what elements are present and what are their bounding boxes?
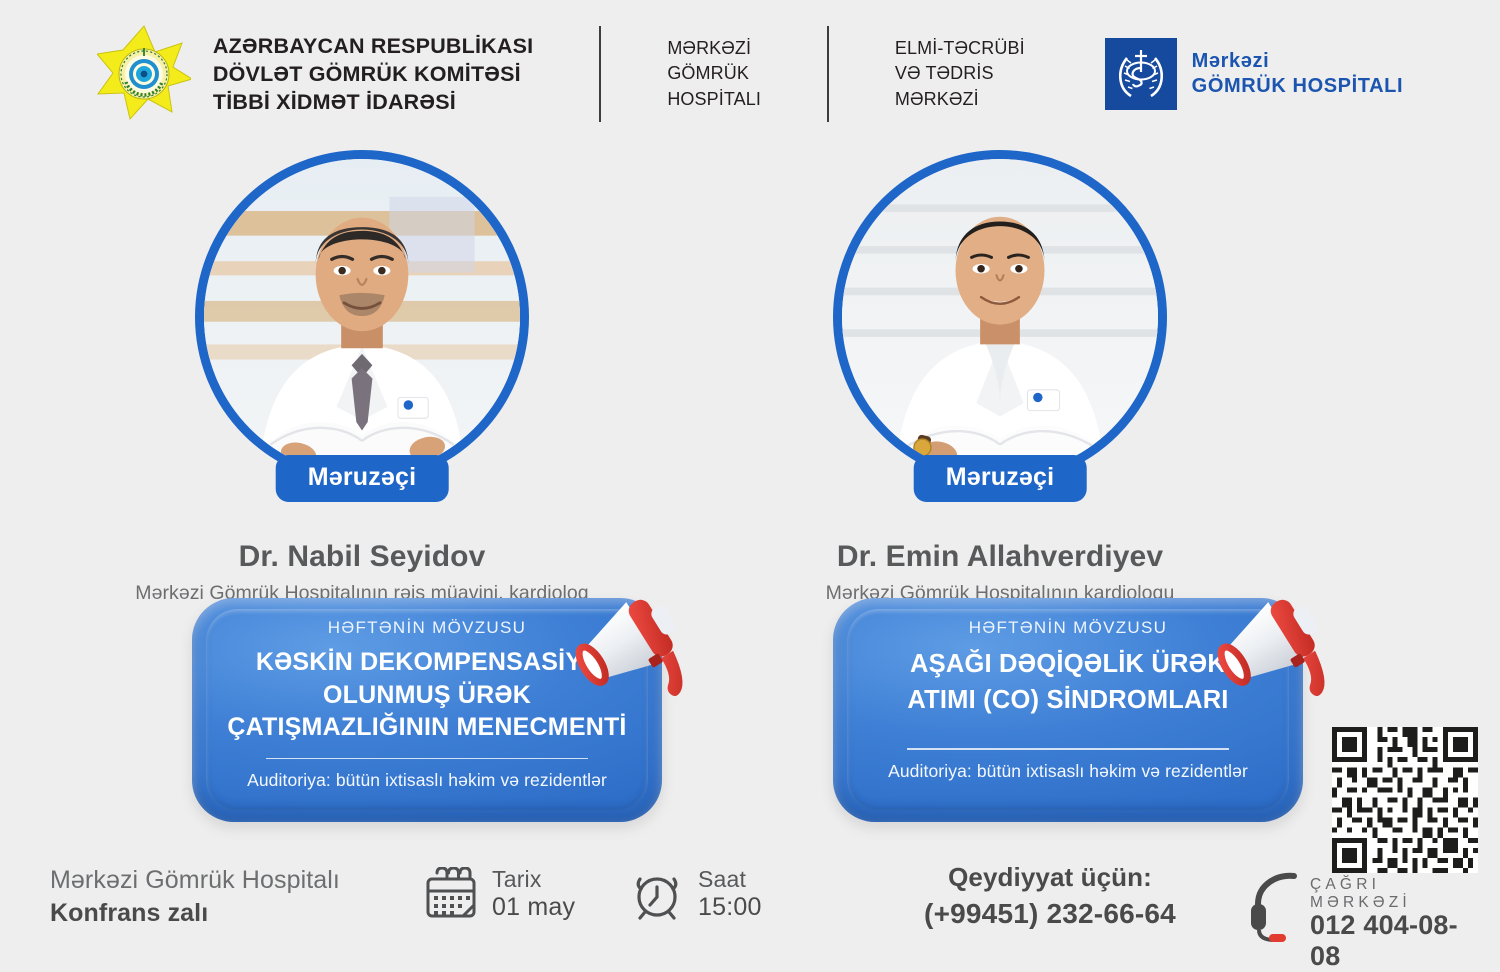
topic-2-separator [907,748,1229,750]
venue-block: Mərkəzi Gömrük Hospitalı Konfrans zalı [50,866,340,928]
hospital-line-2: GÖMRÜK [667,61,761,87]
speaker-2-badge: Məruzəçi [914,455,1087,502]
central-customs-hospital-logo: Mərkəzi GÖMRÜK HOSPİTALI [1105,38,1403,110]
topic-2-audience: Auditoriya: bütün ixtisaslı həkim və rez… [888,761,1248,782]
calendar-icon [424,867,478,921]
registration-block: Qeydiyyat üçün: (+99451) 232-66-64 [880,862,1220,930]
speaker-1-portrait: Məruzəçi [195,150,529,484]
alarm-clock-icon [630,867,684,921]
topic-1-kicker: HƏFTƏNİN MÖVZUSU [328,618,526,638]
megaphone-icon [1198,586,1330,718]
speaker-1-badge: Məruzəçi [276,455,449,502]
center-line-3: MƏRKƏZİ [895,87,1025,113]
date-label: Tarix [492,866,575,893]
org-line-1: AZƏRBAYCAN RESPUBLİKASI [213,32,533,60]
hospital-line-3: HOSPİTALI [667,87,761,113]
speaker-card-1: Məruzəçi Dr. Nabil Seyidov Mərkəzi Gömrü… [52,150,672,605]
speaker-2-portrait: Məruzəçi [833,150,1167,484]
venue-line-2: Konfrans zalı [50,899,340,928]
call-center-text: ÇAĞRI MƏRKƏZİ 012 404-08-08 [1310,876,1488,972]
call-center-number[interactable]: 012 404-08-08 [1310,910,1488,972]
event-date-block: Tarix 01 may [424,866,575,923]
header-divider-2 [827,26,829,122]
time-value: 15:00 [698,893,762,923]
logo-name-line-1: Mərkəzi [1192,49,1403,74]
registration-phone[interactable]: (+99451) 232-66-64 [880,898,1220,930]
logo-name-line-2: GÖMRÜK HOSPİTALI [1192,74,1403,99]
venue-line-1: Mərkəzi Gömrük Hospitalı [50,866,340,895]
poster-header: AZƏRBAYCAN RESPUBLİKASI DÖVLƏT GÖMRÜK KO… [0,24,1500,142]
hospital-logo-text: Mərkəzi GÖMRÜK HOSPİTALI [1192,49,1403,99]
doctor-portrait-photo-icon [195,150,529,484]
center-line-1: ELMİ-TƏCRÜBİ [895,36,1025,62]
header-inner: AZƏRBAYCAN RESPUBLİKASI DÖVLƏT GÖMRÜK KO… [97,24,1403,124]
hospital-name-block: MƏRKƏZİ GÖMRÜK HOSPİTALI [667,36,761,113]
topic-2-title: AŞAĞI DƏQİQƏLİK ÜRƏK ATIMI (CO) SİNDROML… [907,646,1228,718]
training-center-block: ELMİ-TƏCRÜBİ VƏ TƏDRİS MƏRKƏZİ [895,36,1025,113]
center-line-2: VƏ TƏDRİS [895,61,1025,87]
date-value: 01 may [492,893,575,923]
doctor-portrait-photo-icon [833,150,1167,484]
topic-2-title-line-1: AŞAĞI DƏQİQƏLİK ÜRƏK [907,646,1228,682]
organization-title: AZƏRBAYCAN RESPUBLİKASI DÖVLƏT GÖMRÜK KO… [213,32,533,116]
time-label: Saat [698,866,762,893]
event-date-text: Tarix 01 may [492,866,575,923]
topic-2-title-line-2: ATIMI (CO) SİNDROMLARI [907,682,1228,718]
hospital-line-1: MƏRKƏZİ [667,36,761,62]
speaker-2-name: Dr. Emin Allahverdiyev [690,540,1310,574]
azerbaijan-state-customs-committee-emblem-icon [97,24,191,124]
header-divider-1 [599,26,601,122]
central-customs-hospital-emblem-icon [1105,38,1177,110]
speaker-card-2: Məruzəçi Dr. Emin Allahverdiyev Mərkəzi … [690,150,1310,605]
call-center-label: ÇAĞRI MƏRKƏZİ [1310,876,1488,912]
speaker-1-name: Dr. Nabil Seyidov [52,540,672,574]
org-line-2: DÖVLƏT GÖMRÜK KOMİTƏSİ [213,60,533,88]
call-center-block: ÇAĞRI MƏRKƏZİ 012 404-08-08 [1248,862,1488,946]
org-line-3: TİBBİ XİDMƏT İDARƏSİ [213,88,533,116]
event-time-text: Saat 15:00 [698,866,762,923]
topic-1-separator [266,758,588,760]
qr-code-icon[interactable] [1332,727,1478,873]
topic-2-kicker: HƏFTƏNİN MÖVZUSU [969,618,1167,638]
megaphone-icon [556,586,688,718]
registration-label: Qeydiyyat üçün: [880,862,1220,893]
event-time-block: Saat 15:00 [630,866,762,923]
topic-1-audience: Auditoriya: bütün ixtisaslı həkim və rez… [247,770,607,791]
